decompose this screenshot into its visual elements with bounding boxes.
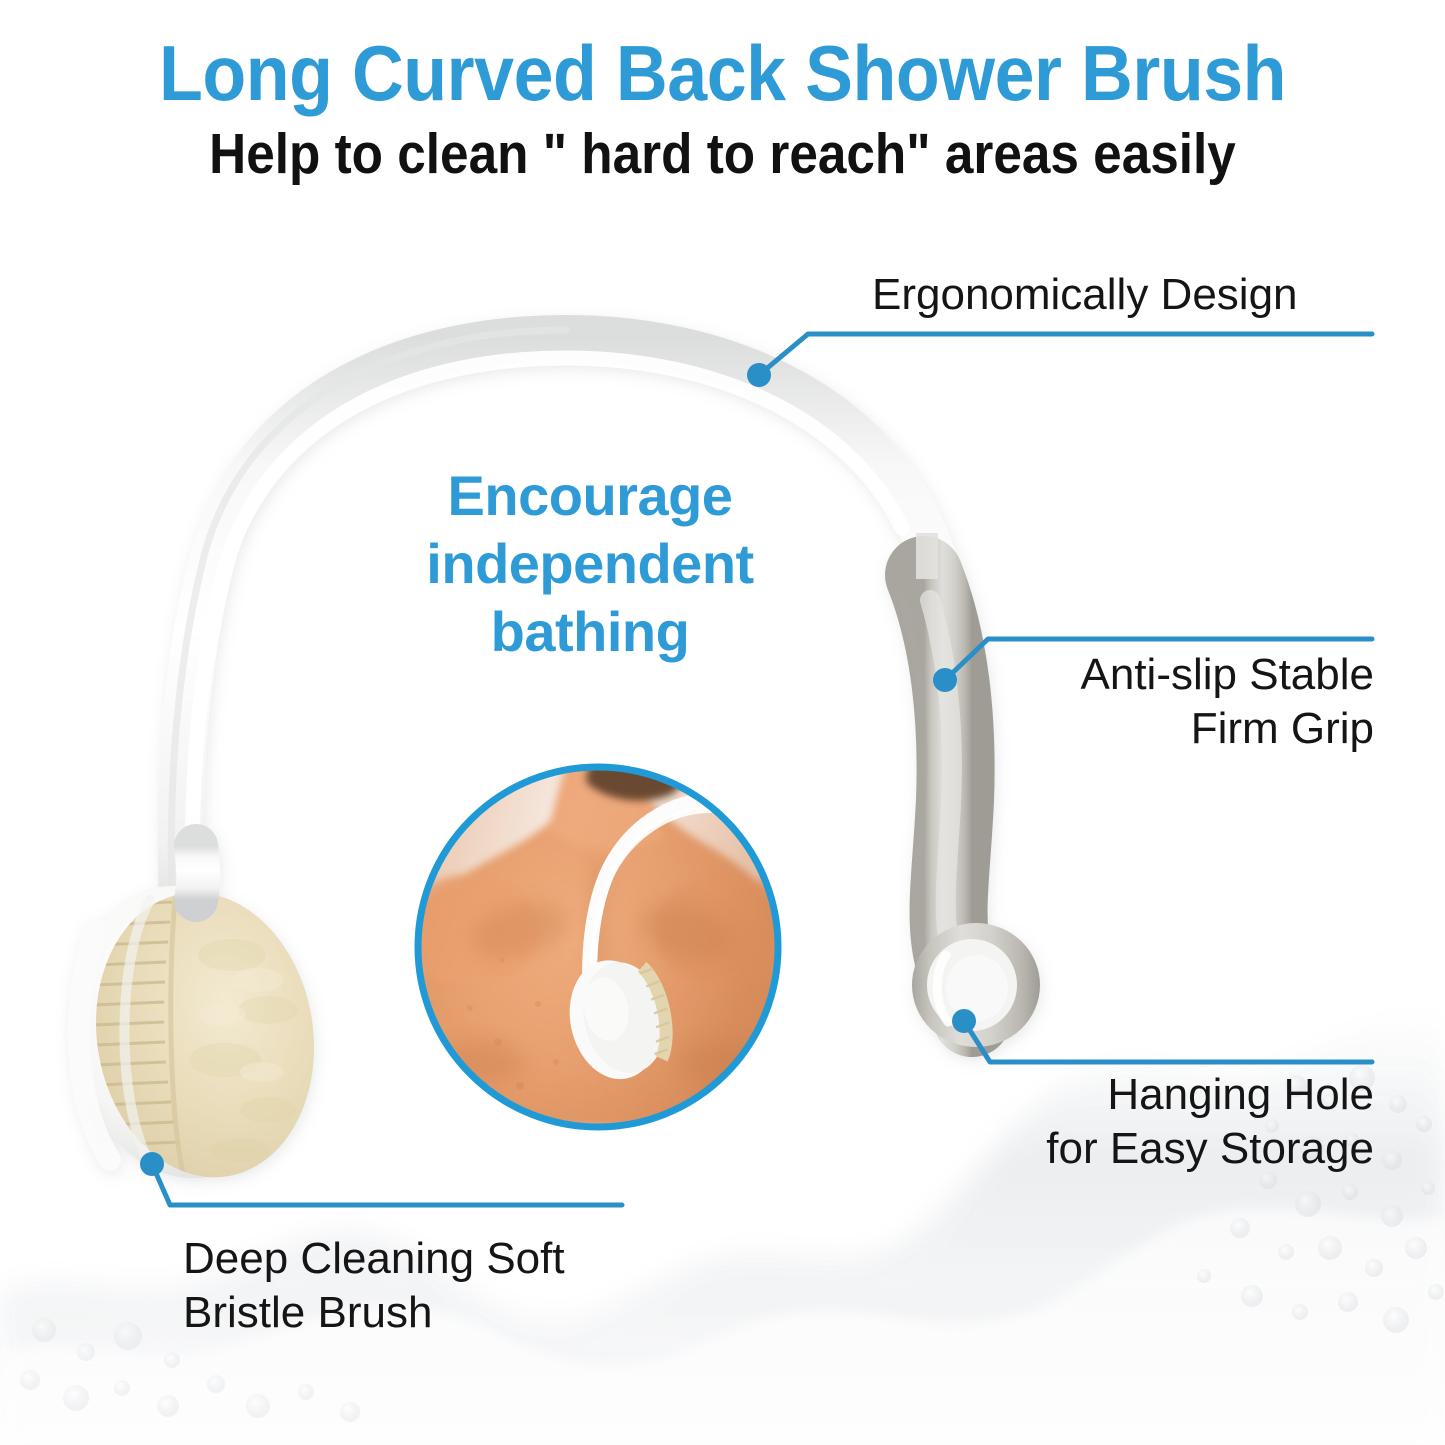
leader-line-ergonomic — [759, 334, 1372, 375]
leader-line-hole — [964, 1021, 1372, 1062]
callout-label-ergonomically-design: Ergonomically Design — [872, 268, 1377, 322]
callout-label-deep-cleaning-bristle: Deep Cleaning Soft Bristle Brush — [183, 1232, 703, 1340]
callout-label-anti-slip-firm-grip: Anti-slip Stable Firm Grip — [930, 648, 1374, 756]
product-infographic: Long Curved Back Shower Brush Help to cl… — [0, 0, 1445, 1445]
slogan-line-2: independent — [370, 530, 810, 598]
page-subtitle: Help to clean " hard to reach" areas eas… — [72, 122, 1373, 186]
leader-line-bristle — [152, 1164, 622, 1205]
leader-dot-bristle — [140, 1152, 164, 1176]
callout-label-hanging-hole: Hanging Hole for Easy Storage — [930, 1068, 1374, 1176]
slogan-text: Encourage independent bathing — [370, 462, 810, 666]
slogan-line-3: bathing — [370, 598, 810, 666]
leader-dot-hole — [952, 1009, 976, 1033]
page-title: Long Curved Back Shower Brush — [58, 30, 1387, 116]
leader-dot-ergonomic — [747, 363, 771, 387]
header-block: Long Curved Back Shower Brush Help to cl… — [0, 30, 1445, 186]
slogan-line-1: Encourage — [370, 462, 810, 530]
